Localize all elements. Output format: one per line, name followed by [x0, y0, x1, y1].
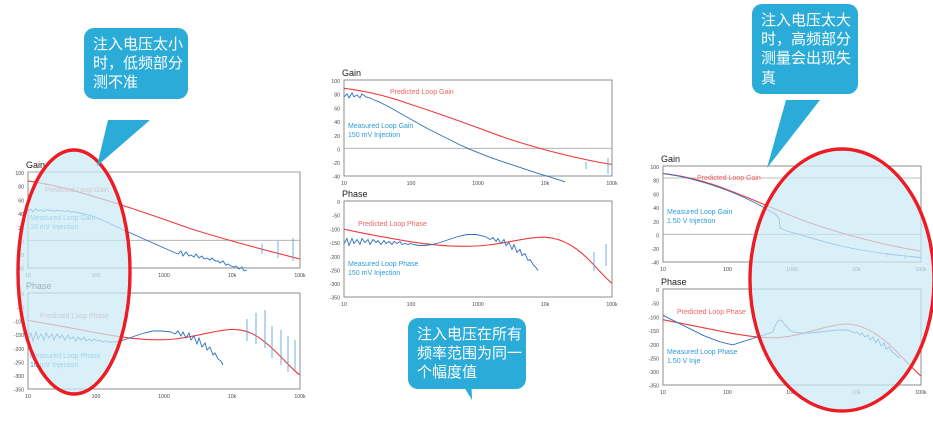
ytick: -100 [649, 315, 659, 321]
ytick: -40 [333, 175, 341, 181]
chart-left-phase-plot: 0 -50 -100 -150 -200 -250 -300 -350 10 1… [14, 292, 306, 400]
ytick: -200 [330, 255, 340, 261]
xtick: 100k [606, 302, 618, 308]
ytick: -300 [330, 282, 340, 288]
ytick: -150 [649, 329, 659, 335]
measured-loop-phase-label: Measured Loop Phase [667, 349, 738, 356]
injection-level-label: 150 mV Injection [348, 270, 400, 277]
chart-group-middle: Gain 100 80 60 40 20 0 -20 -40 10 100 10… [318, 66, 623, 321]
xtick: 100k [915, 267, 927, 273]
callout-line: 注入电压在所有 [417, 325, 517, 344]
ytick: -100 [330, 227, 340, 233]
ytick: 100 [331, 79, 340, 85]
ytick: -50 [17, 306, 25, 312]
predicted-loop-phase-label: Predicted Loop Phase [677, 309, 746, 316]
xtick: 10 [25, 394, 31, 400]
xtick: 100 [92, 394, 101, 400]
ytick: -20 [17, 253, 25, 259]
xtick: 1000 [158, 394, 170, 400]
xtick: 10k [852, 267, 861, 273]
ytick: -50 [333, 214, 341, 220]
ytick: 60 [653, 192, 659, 198]
ytick: -40 [652, 261, 660, 267]
chart-middle-svg: Gain 100 80 60 40 20 0 -20 -40 10 100 10… [318, 66, 623, 321]
ytick: -300 [649, 370, 659, 376]
xtick: 1000 [472, 302, 484, 308]
ytick: 20 [18, 226, 24, 232]
xtick: 1000 [786, 267, 798, 273]
callout-high-injection[interactable]: 注入电压太大 时，高频部分 测量会出现失 真 [752, 4, 858, 94]
callout-line: 频率范围为同一 [417, 344, 517, 363]
measured-loop-gain-label: Measured Loop Gain [348, 123, 413, 130]
callout-line: 注入电压太小 [93, 35, 179, 54]
predicted-loop-phase-label: Predicted Loop Phase [40, 313, 109, 320]
callout-line: 注入电压太大 [761, 11, 849, 30]
ytick: 0 [21, 292, 24, 298]
ytick: -20 [333, 161, 341, 167]
injection-level-label: 150 mV Injection [348, 132, 400, 139]
measured-loop-phase-label: Measured Loop Phase [348, 261, 419, 268]
chart-right-gain-title: Gain [661, 154, 680, 164]
ytick: 20 [334, 134, 340, 140]
xtick: 10 [341, 302, 347, 308]
chart-left-gain-title: Gain [26, 160, 45, 170]
callout-line: 测不准 [93, 73, 179, 92]
measured-loop-gain-label: Measured Loop Gain [667, 209, 732, 216]
ytick: -250 [14, 361, 24, 367]
xtick: 10 [25, 273, 31, 279]
xtick: 1000 [472, 181, 484, 187]
xtick: 10 [341, 181, 347, 187]
ytick: -50 [652, 302, 660, 308]
xtick: 100 [723, 390, 732, 396]
injection-level-label: 10 mV Injection [30, 362, 78, 369]
ytick: 80 [334, 93, 340, 99]
ytick: -200 [14, 347, 24, 353]
ytick: 40 [334, 120, 340, 126]
ytick: 40 [653, 206, 659, 212]
chart-right-phase-plot: 0 -50 -100 -150 -200 -250 -300 -350 10 1… [649, 288, 927, 396]
chart-mid-phase-title: Phase [342, 189, 368, 199]
xtick: 10k [541, 181, 550, 187]
xtick: 100 [92, 273, 101, 279]
ytick: 60 [334, 106, 340, 112]
ytick: -350 [649, 384, 659, 390]
ytick: -250 [330, 269, 340, 275]
measured-loop-phase-label: Measured Loop Phase [30, 353, 101, 360]
xtick: 100k [294, 273, 306, 279]
xtick: 10 [660, 390, 666, 396]
xtick: 10k [541, 302, 550, 308]
callout-line: 真 [761, 69, 849, 88]
callout-line: 时，高频部分 [761, 30, 849, 49]
xtick: 100k [294, 394, 306, 400]
chart-mid-gain-title: Gain [342, 68, 361, 78]
ytick: 80 [653, 179, 659, 185]
predicted-loop-phase-label: Predicted Loop Phase [358, 221, 427, 228]
ytick: -350 [330, 296, 340, 302]
xtick: 100k [606, 181, 618, 187]
figure-stage: Gain 100 80 60 40 20 0 -20 -40 10 100 10… [0, 0, 933, 421]
ytick: -40 [17, 267, 25, 273]
injection-level-label: 1.50 V Injection [667, 218, 715, 225]
callout-low-injection[interactable]: 注入电压太小 时，低频部分 测不准 [84, 28, 188, 99]
ytick: 80 [18, 185, 24, 191]
injection-level-label: 10 mV Injection [30, 224, 78, 231]
injection-level-label: 1.50 V Inje [667, 358, 701, 365]
callout-line: 测量会出现失 [761, 49, 849, 68]
ytick: -300 [14, 374, 24, 380]
xtick: 1000 [786, 390, 798, 396]
ytick: -250 [649, 357, 659, 363]
ytick: 20 [653, 220, 659, 226]
xtick: 100 [407, 302, 416, 308]
ytick: 0 [337, 148, 340, 154]
chart-left-svg: Gain 100 80 60 40 20 0 -20 -40 10 100 10… [0, 158, 310, 416]
ytick: -150 [330, 241, 340, 247]
ytick: 0 [21, 240, 24, 246]
ytick: -20 [652, 247, 660, 253]
ytick: -350 [14, 388, 24, 394]
callout-line: 时，低频部分 [93, 54, 179, 73]
callout-line: 个幅度值 [417, 363, 517, 382]
xtick: 1000 [158, 273, 170, 279]
xtick: 10k [228, 273, 237, 279]
predicted-loop-gain-label: Predicted Loop Gain [45, 187, 109, 194]
ytick: 40 [18, 212, 24, 218]
chart-right-phase-title: Phase [661, 277, 687, 287]
xtick: 10k [852, 390, 861, 396]
ytick: 0 [656, 288, 659, 294]
ytick: -200 [649, 343, 659, 349]
xtick: 100 [723, 267, 732, 273]
ytick: 0 [337, 200, 340, 206]
ytick: 0 [656, 234, 659, 240]
chart-group-left: Gain 100 80 60 40 20 0 -20 -40 10 100 10… [0, 158, 310, 416]
predicted-loop-gain-label: Predicted Loop Gain [390, 89, 454, 96]
measured-loop-gain-label: Measured Loop Gain [30, 215, 95, 222]
chart-right-svg: Gain 100 80 60 40 20 0 -20 -40 10 100 10… [637, 152, 933, 414]
chart-mid-phase-plot: 0 -50 -100 -150 -200 -250 -300 -350 10 1… [330, 200, 618, 308]
ytick: 60 [18, 198, 24, 204]
predicted-loop-gain-label: Predicted Loop Gain [697, 175, 761, 182]
ytick: -150 [14, 333, 24, 339]
ytick: 100 [15, 171, 24, 177]
ytick: 100 [650, 165, 659, 171]
chart-group-right: Gain 100 80 60 40 20 0 -20 -40 10 100 10… [637, 152, 933, 414]
xtick: 10k [228, 394, 237, 400]
xtick: 10 [660, 267, 666, 273]
callout-flat-amplitude[interactable]: 注入电压在所有 频率范围为同一 个幅度值 [408, 318, 526, 389]
ytick: -100 [14, 319, 24, 325]
xtick: 100 [407, 181, 416, 187]
chart-left-phase-title: Phase [26, 281, 52, 291]
xtick: 100k [915, 390, 927, 396]
